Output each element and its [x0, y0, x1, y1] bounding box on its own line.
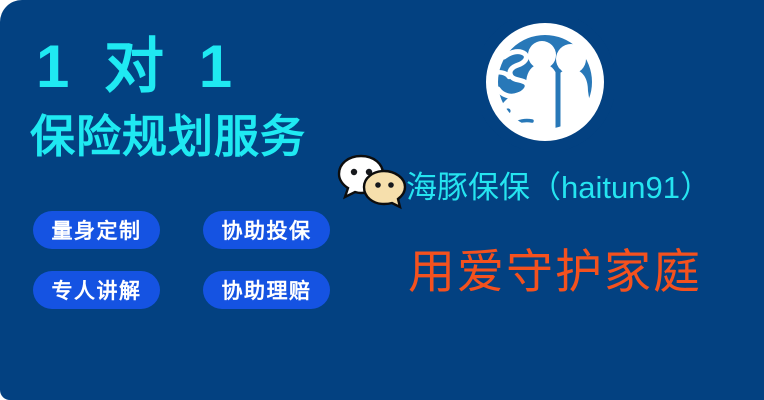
headline-secondary: 保险规划服务: [30, 112, 306, 162]
wechat-icon: [337, 153, 409, 211]
feature-pill-custom-plan[interactable]: 量身定制: [33, 211, 160, 249]
brand-logo: [482, 19, 614, 150]
wechat-handle-text: 海豚保保（haitun91）: [406, 162, 711, 207]
feature-pill-grid: 量身定制 协助投保 专人讲解 协助理赔: [33, 211, 333, 309]
feature-pill-claims-help[interactable]: 协助理赔: [203, 271, 330, 309]
slogan-text: 用爱守护家庭: [408, 247, 702, 298]
wechat-contact-row[interactable]: 海豚保保（haitun91）: [337, 153, 711, 211]
feature-pill-expert-explain[interactable]: 专人讲解: [33, 271, 160, 309]
feature-pill-application-help[interactable]: 协助投保: [203, 211, 330, 249]
globe-family-dolphin-logo-icon: [482, 19, 614, 150]
headline-primary: 1 对 1: [36, 33, 241, 100]
promo-banner: 1 对 1 保险规划服务 量身定制 协助投保 专人讲解 协助理赔: [0, 0, 764, 400]
